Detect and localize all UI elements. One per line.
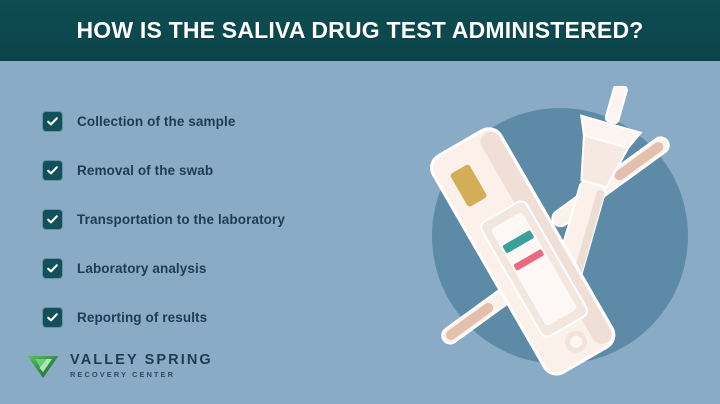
list-item[interactable]: Laboratory analysis xyxy=(43,244,383,293)
checkmark-icon[interactable] xyxy=(43,308,62,327)
brand-logo[interactable]: VALLEY SPRING RECOVERY CENTER xyxy=(26,352,213,380)
list-item-label: Laboratory analysis xyxy=(77,261,206,276)
saliva-test-kit-illustration xyxy=(420,86,700,376)
list-item[interactable]: Transportation to the laboratory xyxy=(43,195,383,244)
list-item-label: Collection of the sample xyxy=(77,114,235,129)
logo-tagline: RECOVERY CENTER xyxy=(70,371,213,379)
valley-spring-v-mark-icon xyxy=(26,352,60,380)
checkmark-icon[interactable] xyxy=(43,210,62,229)
list-item-label: Reporting of results xyxy=(77,310,207,325)
checkmark-icon[interactable] xyxy=(43,161,62,180)
checkmark-icon[interactable] xyxy=(43,112,62,131)
list-item[interactable]: Collection of the sample xyxy=(43,97,383,146)
page-title: HOW IS THE SALIVA DRUG TEST ADMINISTERED… xyxy=(76,17,643,44)
list-item-label: Removal of the swab xyxy=(77,163,213,178)
header-banner: HOW IS THE SALIVA DRUG TEST ADMINISTERED… xyxy=(0,0,720,61)
logo-text-group: VALLEY SPRING RECOVERY CENTER xyxy=(70,353,213,379)
list-item[interactable]: Reporting of results xyxy=(43,293,383,342)
list-item[interactable]: Removal of the swab xyxy=(43,146,383,195)
checklist: Collection of the sample Removal of the … xyxy=(43,97,383,342)
logo-name: VALLEY SPRING xyxy=(70,353,213,368)
checkmark-icon[interactable] xyxy=(43,259,62,278)
infographic-root: HOW IS THE SALIVA DRUG TEST ADMINISTERED… xyxy=(0,0,720,404)
list-item-label: Transportation to the laboratory xyxy=(77,212,285,227)
